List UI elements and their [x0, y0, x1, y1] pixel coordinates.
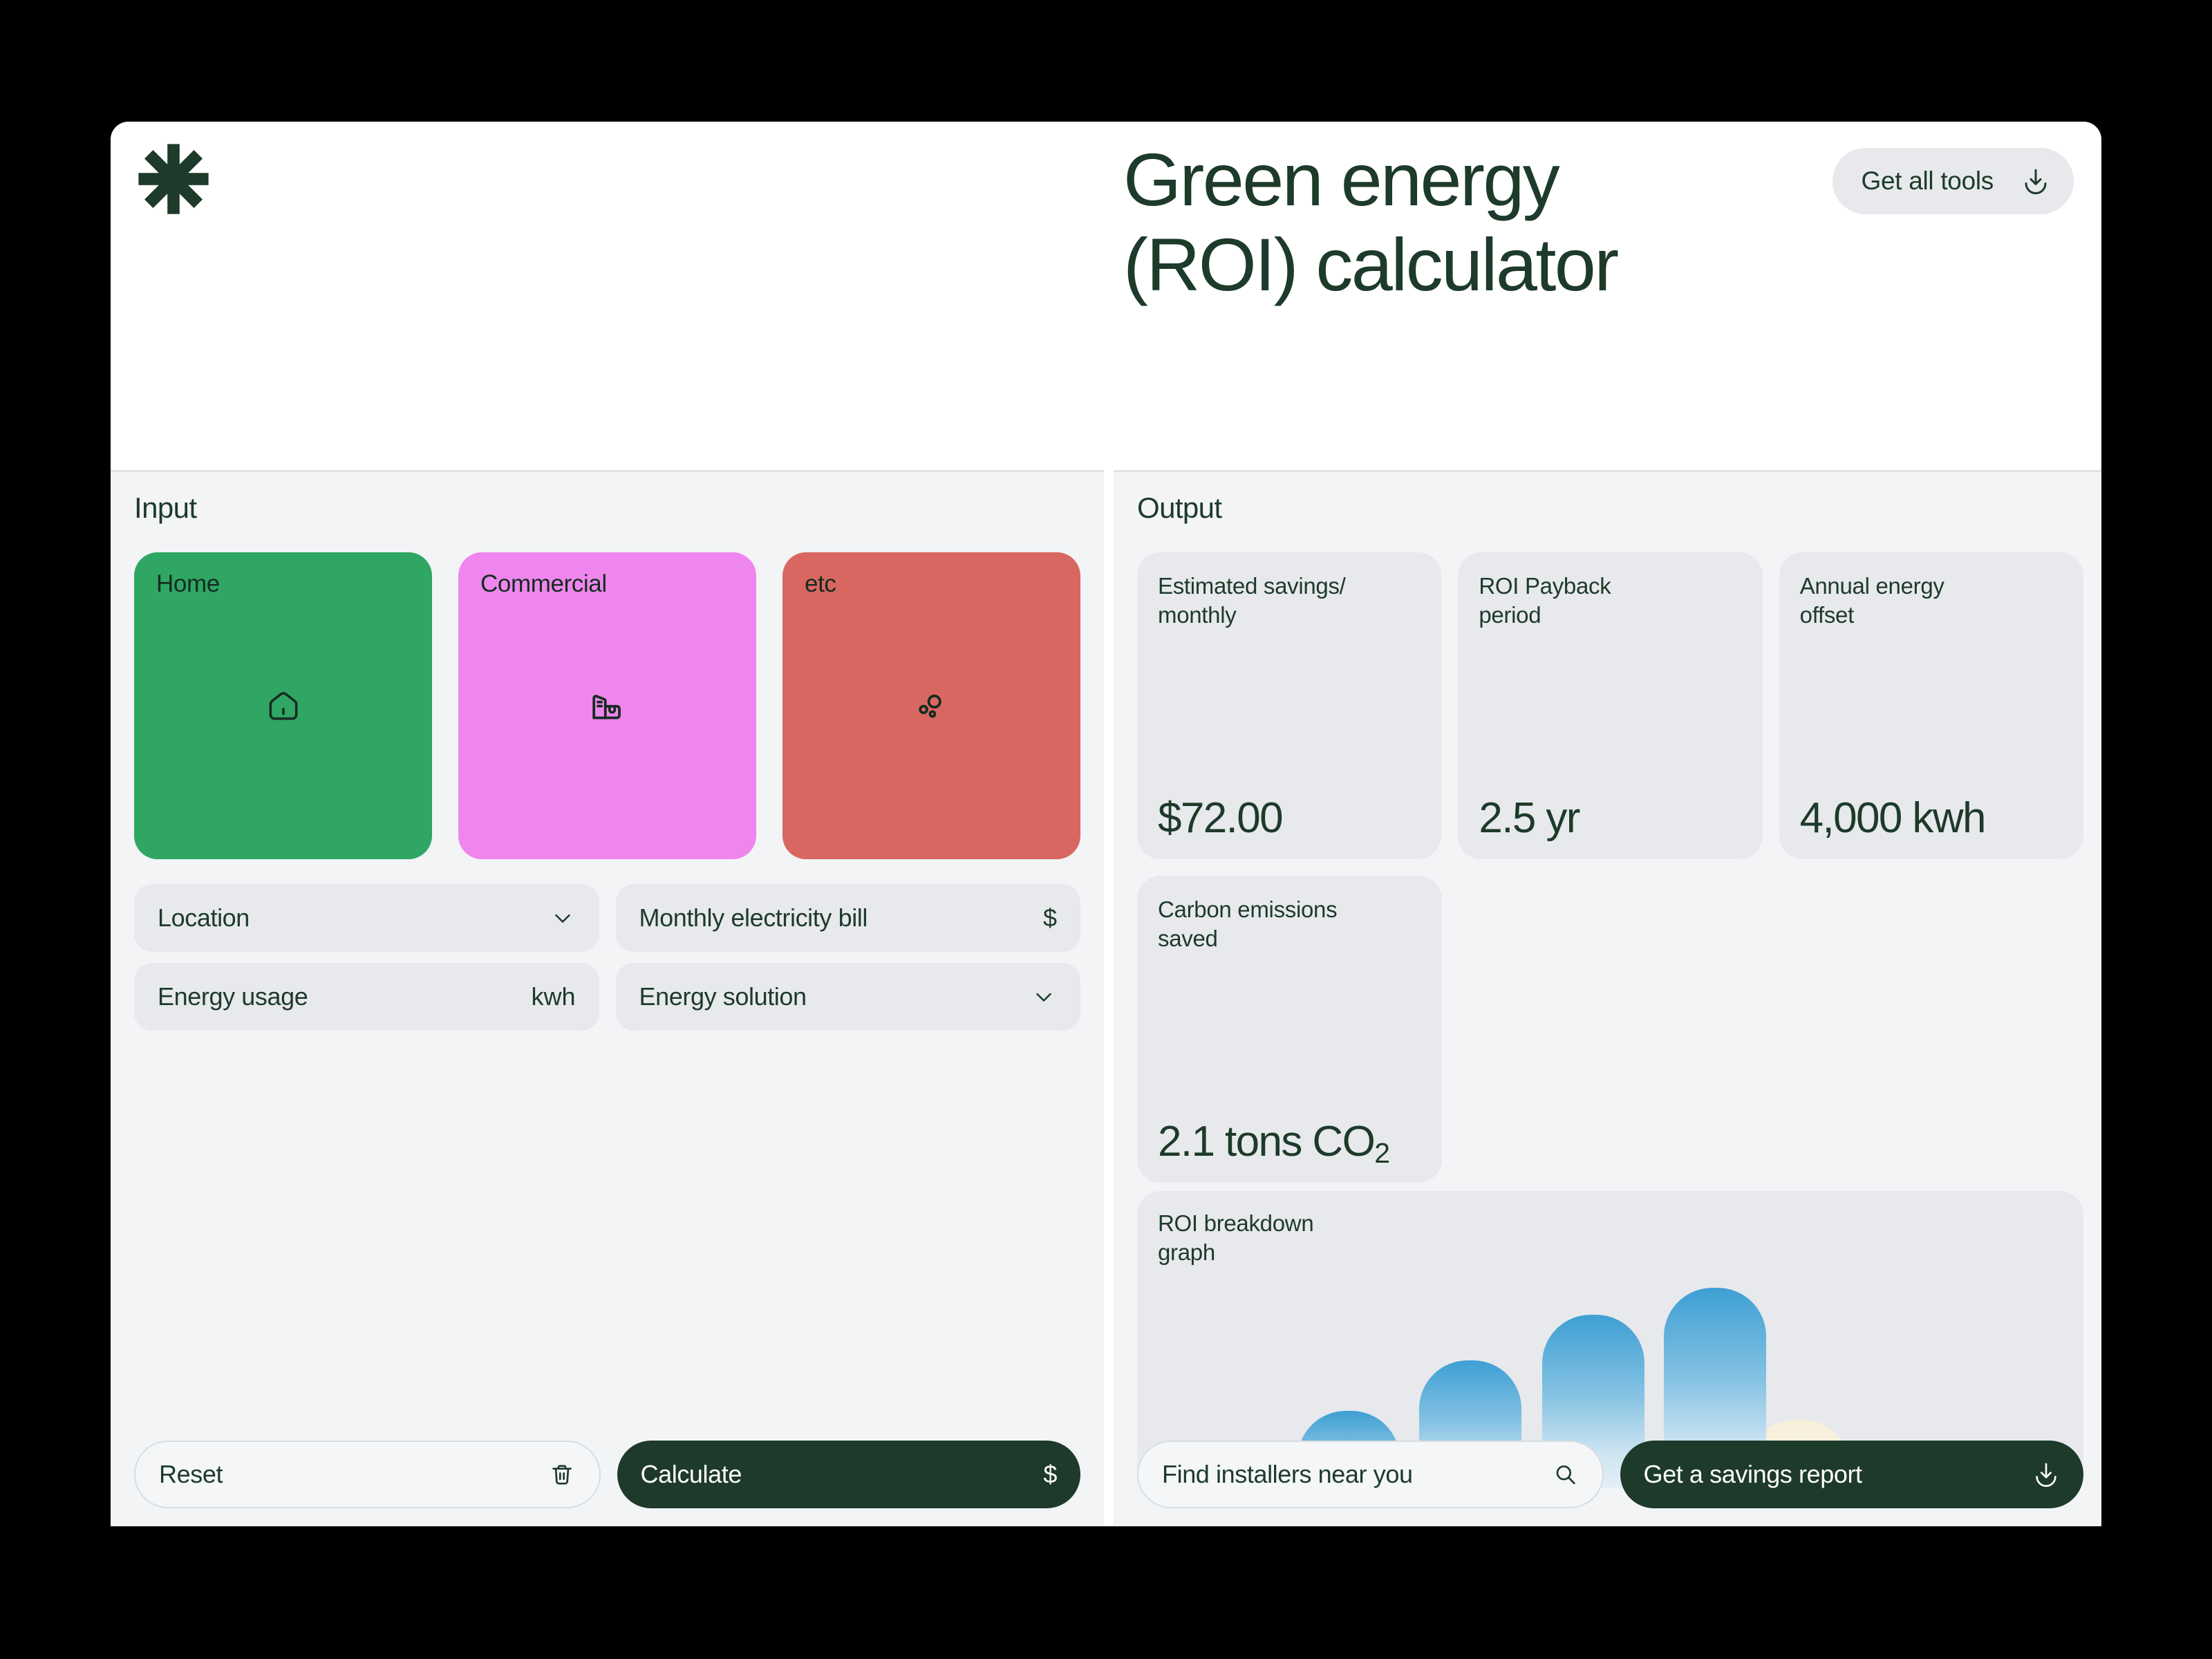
house-icon: [264, 686, 303, 725]
chevron-down-icon: [1031, 984, 1057, 1010]
energy-solution-label: Energy solution: [639, 982, 807, 1011]
output-action-row: Find installers near you Get a savings r…: [1137, 1441, 2083, 1508]
app-header: Green energy(ROI) calculator Get all too…: [111, 122, 2101, 470]
location-select[interactable]: Location: [134, 884, 599, 952]
metric-value: 4,000 kwh: [1800, 794, 1985, 843]
download-icon: [2021, 167, 2050, 196]
metric-card-roi-payback: ROI Payback period 2.5 yr: [1458, 552, 1762, 859]
monthly-bill-input[interactable]: Monthly electricity bill $: [616, 884, 1081, 952]
search-icon: [1551, 1461, 1579, 1488]
type-card-commercial[interactable]: Commercial: [458, 552, 756, 859]
metric-label: Estimated savings/ monthly: [1158, 572, 1421, 630]
metric-label: Annual energy offset: [1800, 572, 2063, 630]
calculate-label: Calculate: [641, 1460, 742, 1489]
input-panel: Input Home Commercial: [111, 470, 1104, 1526]
page-title: Green energy(ROI) calculator: [1123, 137, 1918, 307]
metric-value: $72.00: [1158, 794, 1282, 843]
metric-card-annual-offset: Annual energy offset 4,000 kwh: [1779, 552, 2083, 859]
find-installers-search[interactable]: Find installers near you: [1137, 1441, 1604, 1508]
energy-usage-label: Energy usage: [158, 982, 308, 1011]
metric-value-subscript: 2: [1374, 1137, 1389, 1169]
get-all-tools-label: Get all tools: [1862, 167, 1994, 196]
page-title-line2: (ROI) calculator: [1123, 223, 1618, 306]
asterisk-logo-icon: [135, 141, 212, 217]
chevron-down-icon: [550, 905, 576, 931]
building-icon: [588, 686, 627, 725]
calculate-button[interactable]: Calculate $: [617, 1441, 1081, 1508]
savings-report-button[interactable]: Get a savings report: [1620, 1441, 2084, 1508]
download-icon: [2032, 1461, 2060, 1488]
reset-label: Reset: [159, 1460, 223, 1489]
get-all-tools-button[interactable]: Get all tools: [1833, 148, 2074, 214]
body-split: Input Home Commercial: [111, 470, 2101, 1526]
location-label: Location: [158, 903, 250, 932]
metric-card-estimated-savings: Estimated savings/ monthly $72.00: [1137, 552, 1441, 859]
page-title-line1: Green energy: [1123, 138, 1558, 221]
input-fields: Location Monthly electricity bill $ Ener…: [134, 884, 1080, 1031]
graph-title: ROI breakdown graph: [1158, 1209, 1313, 1267]
metric-label: ROI Payback period: [1479, 572, 1741, 630]
input-panel-label: Input: [134, 491, 196, 525]
metric-value-text: 2.1 tons CO: [1158, 1118, 1374, 1165]
app-window: Green energy(ROI) calculator Get all too…: [111, 122, 2101, 1526]
dollar-icon: $: [1043, 1460, 1057, 1489]
type-card-home-label: Home: [156, 570, 220, 598]
kwh-unit: kwh: [531, 982, 575, 1011]
metric-value: 2.5 yr: [1479, 794, 1579, 843]
energy-usage-input[interactable]: Energy usage kwh: [134, 963, 599, 1031]
reset-button[interactable]: Reset: [134, 1441, 601, 1508]
metric-value: 2.1 tons CO2: [1158, 1117, 1389, 1166]
bubbles-icon: [912, 686, 951, 725]
type-card-commercial-label: Commercial: [480, 570, 607, 598]
type-card-etc[interactable]: etc: [782, 552, 1080, 859]
panel-divider: [1104, 470, 1114, 1526]
metric-card-carbon-saved: Carbon emissions saved 2.1 tons CO2: [1137, 876, 1442, 1183]
dollar-icon: $: [1043, 903, 1057, 932]
metric-label: Carbon emissions saved: [1158, 895, 1421, 953]
savings-report-label: Get a savings report: [1644, 1460, 1862, 1489]
trash-icon: [548, 1461, 576, 1488]
metric-cards: Estimated savings/ monthly $72.00 ROI Pa…: [1137, 552, 2083, 859]
find-installers-placeholder: Find installers near you: [1162, 1460, 1413, 1489]
monthly-bill-label: Monthly electricity bill: [639, 903, 868, 932]
property-type-cards: Home Commercial: [134, 552, 1080, 859]
energy-solution-select[interactable]: Energy solution: [616, 963, 1081, 1031]
input-action-row: Reset Calculate $: [134, 1441, 1080, 1508]
output-panel-label: Output: [1137, 491, 1221, 525]
type-card-etc-label: etc: [805, 570, 836, 598]
type-card-home[interactable]: Home: [134, 552, 432, 859]
output-panel: Output Estimated savings/ monthly $72.00…: [1114, 470, 2101, 1526]
